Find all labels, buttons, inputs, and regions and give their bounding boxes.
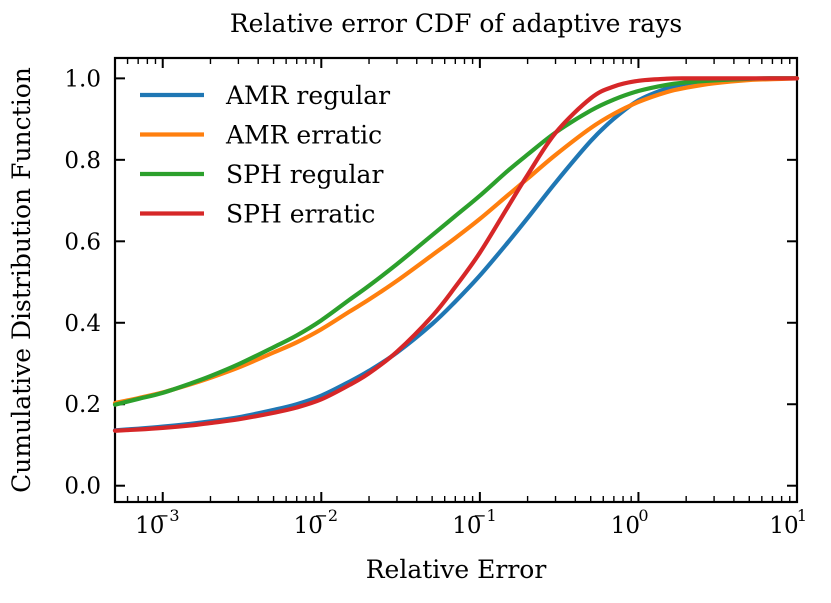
axis-tick-labels: 10−310−210−11001010.00.20.40.60.81.0: [64, 66, 807, 539]
y-axis-label: Cumulative Distribution Function: [7, 67, 36, 493]
series-line-amr-erratic: [115, 78, 797, 403]
x-tick-label: 10−2: [294, 506, 338, 539]
y-tick-label: 0.6: [64, 229, 101, 255]
x-tick-label-base: 10: [611, 513, 640, 539]
axis-major-ticks: [115, 58, 797, 502]
legend-label-amr-erratic: AMR erratic: [225, 121, 382, 150]
y-tick-label: 0.0: [64, 474, 101, 500]
x-tick-label: 10−1: [452, 506, 496, 539]
y-tick-label: 0.4: [64, 311, 101, 337]
x-axis-label: Relative Error: [366, 555, 547, 584]
relative-error-cdf-chart: Relative error CDF of adaptive rays Cumu…: [0, 0, 831, 603]
x-tick-label: 100: [611, 506, 649, 539]
x-tick-label-exponent: −3: [156, 506, 180, 525]
x-tick-label: 10−3: [135, 506, 179, 539]
y-tick-label: 1.0: [64, 66, 101, 92]
legend-label-sph-regular: SPH regular: [226, 160, 383, 189]
chart-title: Relative error CDF of adaptive rays: [230, 9, 682, 38]
chart-legend: AMR regularAMR erraticSPH regularSPH err…: [140, 81, 390, 229]
series-line-sph-regular: [115, 78, 797, 404]
figure-canvas: Relative error CDF of adaptive rays Cumu…: [0, 0, 831, 603]
x-tick-label-base: 10: [769, 513, 798, 539]
x-axis-minor-ticks: [115, 58, 790, 502]
x-tick-label-exponent: −2: [315, 506, 339, 525]
x-tick-label-exponent: 0: [638, 506, 648, 525]
y-tick-label: 0.2: [64, 392, 101, 418]
legend-label-sph-erratic: SPH erratic: [226, 200, 375, 229]
x-tick-label-exponent: −1: [473, 506, 497, 525]
data-series-group: [115, 78, 797, 430]
series-line-sph-erratic: [115, 78, 797, 430]
x-tick-label-exponent: 1: [797, 506, 807, 525]
x-tick-label: 101: [769, 506, 807, 539]
axes-frame: [115, 58, 797, 502]
y-tick-label: 0.8: [64, 148, 101, 174]
legend-label-amr-regular: AMR regular: [225, 81, 390, 110]
